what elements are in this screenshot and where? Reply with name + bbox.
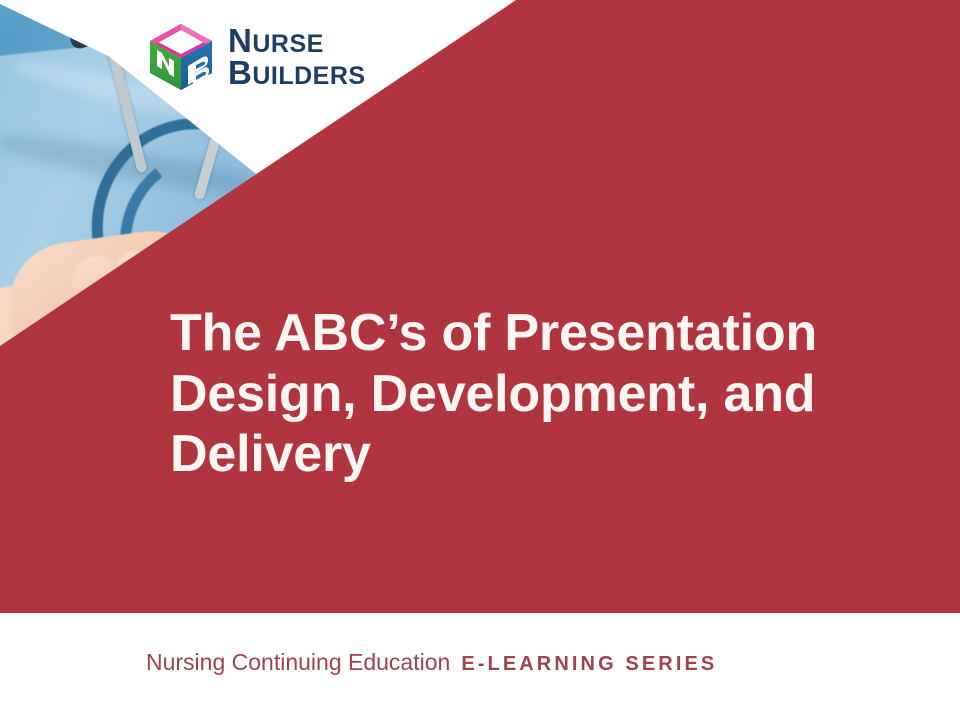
footer-primary-text: Nursing Continuing Education bbox=[146, 649, 450, 676]
wordmark-rest-uilders: UILDERS bbox=[252, 62, 365, 90]
slide-footer: Nursing Continuing Education E-LEARNING … bbox=[146, 649, 717, 676]
title-line-3: Delivery bbox=[170, 424, 890, 485]
brand-wordmark: NURSE BUILDERS bbox=[228, 25, 366, 89]
wordmark-line-builders: BUILDERS bbox=[228, 57, 366, 89]
cube-logo-icon bbox=[148, 22, 214, 92]
slide-title: The ABC’s of Presentation Design, Develo… bbox=[170, 303, 890, 485]
stethoscope-eartip bbox=[68, 21, 107, 51]
title-slide: NURSE BUILDERS The ABC’s of Presentation… bbox=[0, 0, 960, 720]
brand-logo-lockup: NURSE BUILDERS bbox=[148, 22, 366, 92]
wordmark-cap-b: B bbox=[228, 54, 252, 91]
title-line-1: The ABC’s of Presentation bbox=[170, 303, 890, 364]
footer-series-label: E-LEARNING SERIES bbox=[461, 653, 717, 676]
title-line-2: Design, Development, and bbox=[170, 364, 890, 425]
wordmark-line-nurse: NURSE bbox=[228, 25, 366, 57]
wordmark-rest-urse: URSE bbox=[252, 30, 323, 58]
